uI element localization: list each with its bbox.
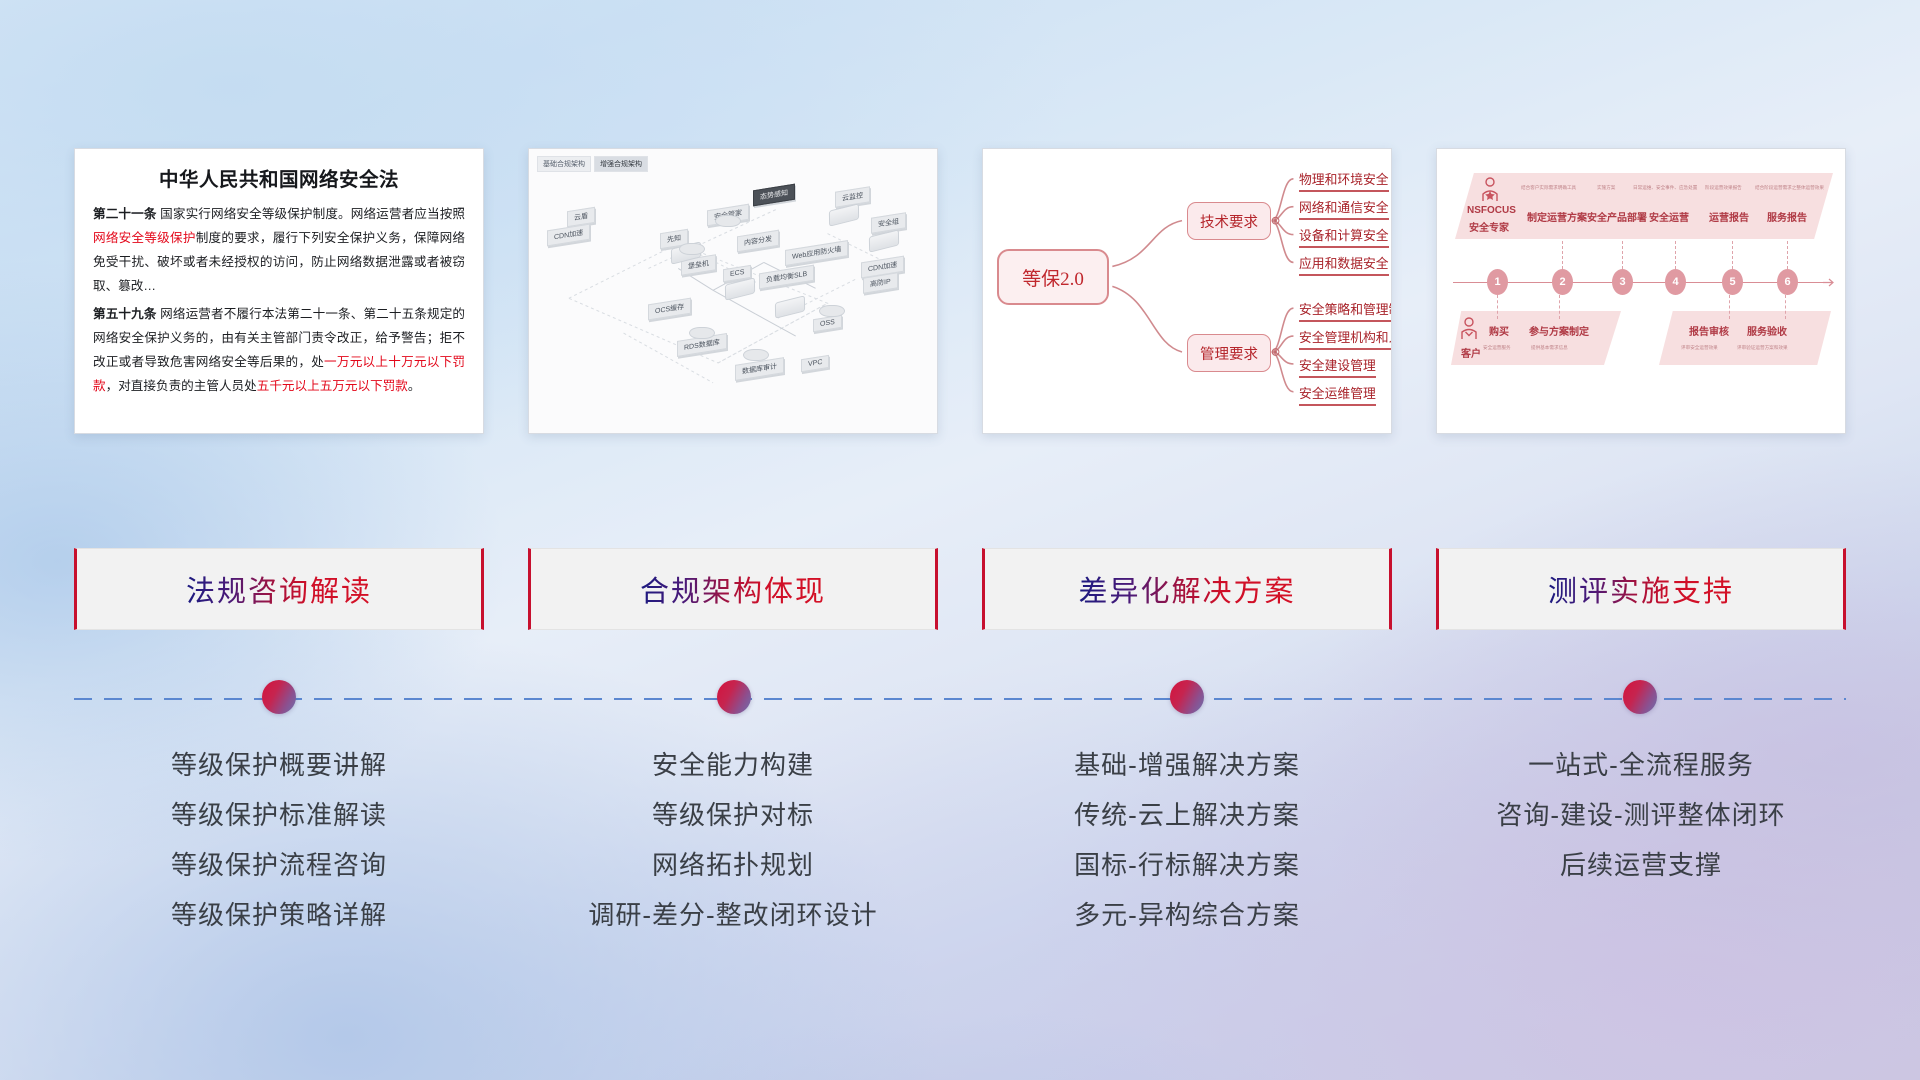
article-59-run-4: 。 (408, 379, 421, 393)
iso-cylinder-shape (819, 305, 845, 317)
process-node-2: 2 (1552, 269, 1573, 295)
list-item: 等级保护流程咨询 (171, 840, 387, 890)
list-item: 等级保护对标 (652, 790, 814, 840)
timeline-dot-1 (262, 680, 296, 714)
iso-cylinder-shape (743, 349, 769, 361)
list-item: 等级保护标准解读 (171, 790, 387, 840)
heading-box-differentiated-solution[interactable]: 差异化解决方案 (982, 548, 1392, 630)
list-item: 一站式-全流程服务 (1528, 740, 1754, 790)
timeline-dot-2 (717, 680, 751, 714)
axis-arrow-icon (1823, 276, 1837, 290)
process-node-3: 3 (1612, 269, 1633, 295)
process-dash-connector (1729, 295, 1730, 319)
customer-step-1-main: 购买 (1489, 323, 1509, 338)
process-dash-connector (1622, 241, 1623, 269)
customer-step-4-sub: 评审验证运营方案和效果 (1737, 345, 1788, 351)
mindmap-leaf-org-personnel: 安全管理机构和人员 (1299, 327, 1392, 350)
article-number: 第五十九条 (93, 307, 157, 321)
section-heading-row: 法规咨询解读 合规架构体现 差异化解决方案 测评实施支持 (74, 548, 1846, 630)
iso-cylinder-shape (689, 327, 715, 339)
item-column-regulation-consulting: 等级保护概要讲解 等级保护标准解读 等级保护流程咨询 等级保护策略详解 (74, 740, 484, 940)
heading-box-assessment-support[interactable]: 测评实施支持 (1436, 548, 1846, 630)
security-expert-icon (1479, 177, 1501, 203)
heading-box-regulation-consulting[interactable]: 法规咨询解读 (74, 548, 484, 630)
customer-step-3-sub: 评审安全运营效果 (1681, 345, 1718, 351)
mindmap-leaf-operation-mgmt: 安全运维管理 (1299, 383, 1376, 406)
list-item: 安全能力构建 (652, 740, 814, 790)
law-article-59: 第五十九条 网络运营者不履行本法第二十一条、第二十五条规定的网络安全保护义务的，… (93, 302, 465, 398)
process-dash-connector (1559, 295, 1560, 319)
heading-label: 法规咨询解读 (186, 568, 372, 610)
law-title: 中华人民共和国网络安全法 (93, 163, 465, 192)
iso-cylinder-shape (679, 243, 705, 255)
vendor-step-5-main: 服务报告 (1767, 209, 1807, 224)
customer-step-4-main: 服务验收 (1747, 323, 1787, 338)
vendor-step-3-main: 安全运营 (1649, 209, 1689, 224)
customer-band-right (1659, 311, 1831, 365)
process-node-4: 4 (1665, 269, 1686, 295)
heading-label: 合规架构体现 (640, 568, 826, 610)
list-item: 国标-行标解决方案 (1074, 840, 1300, 890)
mindmap-root-node: 等保2.0 (997, 249, 1109, 305)
article-21-run-0: 国家实行网络安全等级保护制度。网络运营者应当按照 (157, 207, 465, 221)
process-node-6: 6 (1777, 269, 1798, 295)
mindmap-leaf-construction-mgmt: 安全建设管理 (1299, 355, 1376, 378)
card-cybersecurity-law[interactable]: 中华人民共和国网络安全法 第二十一条 国家实行网络安全等级保护制度。网络运营者应… (74, 148, 484, 434)
card-compliance-architecture[interactable]: 基础合规架构 增强合规架构 (528, 148, 938, 434)
process-dash-connector (1732, 241, 1733, 269)
list-item: 基础-增强解决方案 (1074, 740, 1300, 790)
list-item: 后续运营支撑 (1560, 840, 1722, 890)
heading-label: 测评实施支持 (1548, 568, 1734, 610)
card-dengbao-mindmap[interactable]: 等保2.0 技术要求 物理和环境安全 网络和通信安全 设备和计算安全 应用和数据… (982, 148, 1392, 434)
mindmap-leaf-policy-system: 安全策略和管理制度 (1299, 299, 1392, 322)
heading-box-compliance-architecture[interactable]: 合规架构体现 (528, 548, 938, 630)
item-column-assessment-support: 一站式-全流程服务 咨询-建设-测评整体闭环 后续运营支撑 (1436, 740, 1846, 940)
list-item: 传统-云上解决方案 (1074, 790, 1300, 840)
list-item: 咨询-建设-测评整体闭环 (1496, 790, 1785, 840)
vendor-name: NSFOCUS (1467, 205, 1516, 216)
mindmap-leaf-physical-environment: 物理和环境安全 (1299, 169, 1389, 192)
customer-icon (1459, 317, 1479, 341)
process-dash-connector (1562, 241, 1563, 269)
section-items-row: 等级保护概要讲解 等级保护标准解读 等级保护流程咨询 等级保护策略详解 安全能力… (74, 740, 1846, 940)
law-article-21: 第二十一条 国家实行网络安全等级保护制度。网络运营者应当按照网络安全等级保护制度… (93, 202, 465, 298)
vendor-step-4-main: 运营报告 (1709, 209, 1749, 224)
article-21-run-1-highlight: 网络安全等级保护 (93, 231, 196, 245)
vendor-role: 安全专家 (1469, 219, 1509, 234)
process-dash-connector (1787, 241, 1788, 269)
process-node-1: 1 (1487, 269, 1508, 295)
vendor-step-2-sub: 实施方案 (1597, 185, 1615, 191)
thumbnail-row: 中华人民共和国网络安全法 第二十一条 国家实行网络安全等级保护制度。网络运营者应… (74, 148, 1846, 438)
list-item: 多元-异构综合方案 (1074, 890, 1300, 940)
customer-step-2-main: 参与方案制定 (1529, 323, 1589, 338)
article-59-run-3-highlight: 五千元以上五万元以下罚款 (257, 379, 408, 393)
item-column-differentiated-solution: 基础-增强解决方案 传统-云上解决方案 国标-行标解决方案 多元-异构综合方案 (982, 740, 1392, 940)
list-item: 等级保护概要讲解 (171, 740, 387, 790)
list-item: 调研-差分-整改闭环设计 (588, 890, 877, 940)
mindmap-leaf-network-communication: 网络和通信安全 (1299, 197, 1389, 220)
process-axis-line (1453, 282, 1829, 283)
vendor-step-1-sub: 结合客户实际需求明确工具 (1521, 185, 1576, 191)
timeline-dot-row (74, 680, 1846, 718)
customer-role: 客户 (1461, 345, 1481, 360)
mindmap-branch-technical: 技术要求 (1187, 202, 1271, 240)
vendor-step-4-sub: 阶段运营效果报告 (1705, 185, 1742, 191)
customer-step-3-main: 报告审核 (1689, 323, 1729, 338)
iso-cylinder-shape (715, 215, 741, 227)
timeline-dot-3 (1170, 680, 1204, 714)
article-59-run-2: ，对直接负责的主管人员处 (106, 379, 257, 393)
process-dash-connector (1675, 241, 1676, 269)
vendor-step-1-main: 制定运营方案 (1527, 209, 1587, 224)
mindmap-branch-management: 管理要求 (1187, 334, 1271, 372)
slide-canvas: 中华人民共和国网络安全法 第二十一条 国家实行网络安全等级保护制度。网络运营者应… (0, 0, 1920, 1080)
timeline-dot-4 (1623, 680, 1657, 714)
vendor-step-2-main: 安全产品部署 (1587, 209, 1647, 224)
card-service-process[interactable]: NSFOCUS 安全专家 结合客户实际需求明确工具 制定运营方案 实施方案 安全… (1436, 148, 1846, 434)
process-dash-connector (1497, 295, 1498, 319)
list-item: 网络拓扑规划 (652, 840, 814, 890)
customer-step-1-sub: 安全运营服务 (1483, 345, 1511, 351)
vendor-step-5-sub: 结合阶段运营需求之整体运营效果 (1755, 185, 1824, 191)
mindmap-leaf-device-computing: 设备和计算安全 (1299, 225, 1389, 248)
vendor-step-3-sub: 日常运维、安全事件、应急处置 (1633, 185, 1697, 191)
mindmap-leaf-application-data: 应用和数据安全 (1299, 253, 1389, 276)
article-number: 第二十一条 (93, 207, 157, 221)
list-item: 等级保护策略详解 (171, 890, 387, 940)
process-dash-connector (1785, 295, 1786, 319)
customer-step-2-sub: 提供基本需求信息 (1531, 345, 1568, 351)
item-column-compliance-architecture: 安全能力构建 等级保护对标 网络拓扑规划 调研-差分-整改闭环设计 (528, 740, 938, 940)
heading-label: 差异化解决方案 (1078, 568, 1295, 610)
process-node-5: 5 (1722, 269, 1743, 295)
